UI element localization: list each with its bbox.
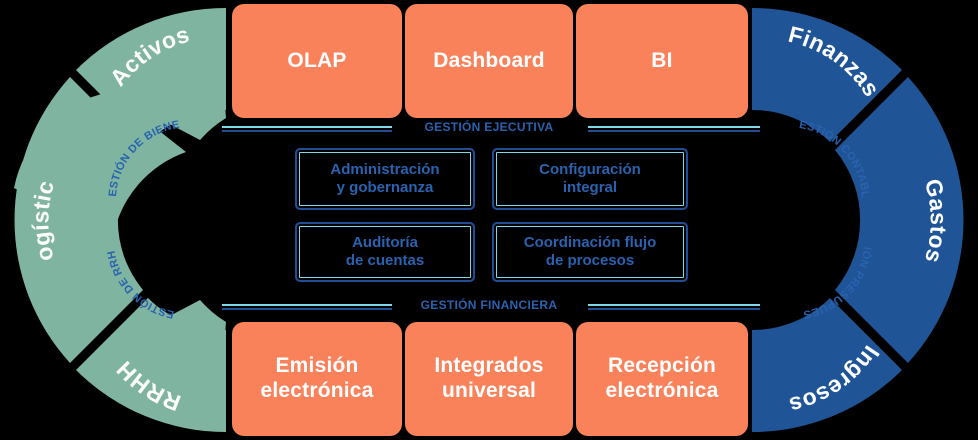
band-rule-right bbox=[588, 304, 760, 312]
band-gestion-ejecutiva: GESTIÓN EJECUTIVA bbox=[0, 120, 978, 140]
inner-box-3-line1: Auditoría bbox=[352, 234, 418, 251]
band-rule-left bbox=[222, 304, 392, 312]
band-rule-right bbox=[588, 126, 760, 134]
inner-box-administracion-gobernanza[interactable]: Administración y gobernanza bbox=[295, 148, 475, 210]
band-top-label: GESTIÓN EJECUTIVA bbox=[419, 120, 560, 134]
band-rule-left bbox=[222, 126, 392, 134]
inner-box-auditoria-de-cuentas[interactable]: Auditoría de cuentas bbox=[295, 222, 475, 282]
band-bottom-label: GESTIÓN FINANCIERA bbox=[415, 298, 564, 312]
card-olap-label: OLAP bbox=[287, 49, 346, 74]
card-emision-line1: Emisión bbox=[275, 354, 358, 377]
card-recepcion-line1: Recepción bbox=[608, 354, 716, 377]
inner-box-2-line2: integral bbox=[563, 179, 617, 196]
card-bi-label: BI bbox=[651, 49, 672, 74]
inner-box-4-line1: Coordinación flujo bbox=[524, 234, 657, 251]
band-gestion-financiera: GESTIÓN FINANCIERA bbox=[0, 298, 978, 318]
card-integrados-line1: Integrados bbox=[434, 354, 543, 377]
card-integrados-universal[interactable]: Integrados universal bbox=[405, 322, 573, 436]
inner-box-2-line1: Configuración bbox=[539, 161, 641, 178]
inner-box-1-line1: Administración bbox=[330, 161, 439, 178]
card-emision-electronica[interactable]: Emisión electrónica bbox=[232, 322, 402, 436]
card-integrados-line2: universal bbox=[442, 379, 536, 402]
card-emision-line2: electrónica bbox=[260, 379, 373, 402]
inner-box-configuracion-integral[interactable]: Configuración integral bbox=[492, 148, 688, 210]
inner-box-4-line2: de procesos bbox=[546, 252, 634, 269]
diagram-canvas: Activos Logística RRHH Finanzas Gastos I… bbox=[0, 0, 978, 440]
card-dashboard-label: Dashboard bbox=[433, 49, 545, 74]
inner-box-1-line2: y gobernanza bbox=[337, 179, 434, 196]
inner-box-3-line2: de cuentas bbox=[346, 252, 424, 269]
card-bi[interactable]: BI bbox=[576, 4, 748, 118]
card-olap[interactable]: OLAP bbox=[232, 4, 402, 118]
card-recepcion-electronica[interactable]: Recepción electrónica bbox=[576, 322, 748, 436]
inner-box-coordinacion-flujo-procesos[interactable]: Coordinación flujo de procesos bbox=[492, 222, 688, 282]
card-dashboard[interactable]: Dashboard bbox=[405, 4, 573, 118]
card-recepcion-line2: electrónica bbox=[605, 379, 718, 402]
